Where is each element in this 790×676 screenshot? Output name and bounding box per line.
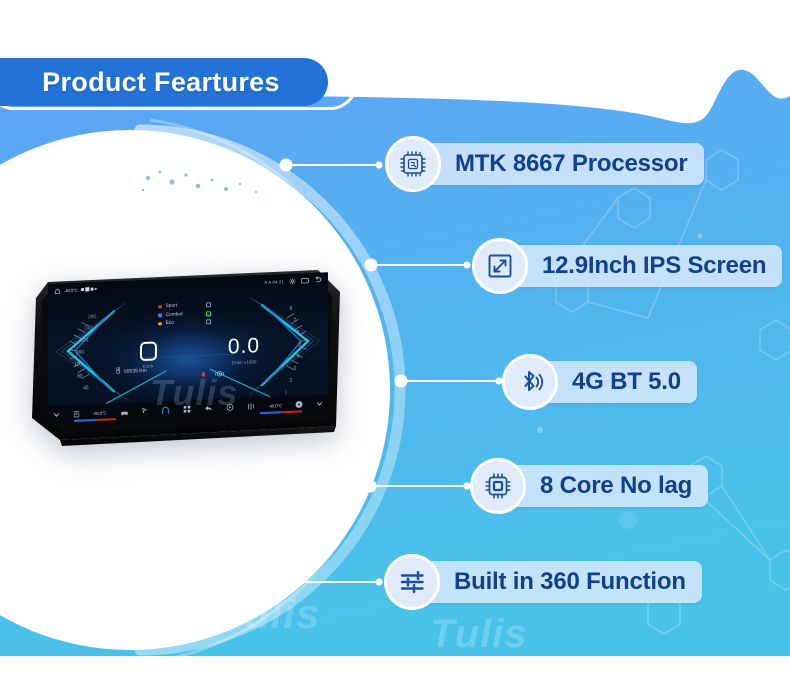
left-temp-bar bbox=[74, 418, 116, 421]
drive-mode-comfort[interactable]: Comfort bbox=[158, 311, 211, 318]
bluetooth-signal-icon bbox=[502, 354, 558, 410]
statusbar-time: 0 A 04:21 bbox=[265, 279, 284, 285]
odometer-value: 65535 Km bbox=[124, 367, 147, 374]
mode-dot bbox=[158, 322, 162, 326]
feature-pill: 12.9Inch IPS Screen bbox=[506, 245, 782, 287]
speed-value bbox=[112, 338, 184, 362]
car-icon[interactable] bbox=[120, 408, 129, 415]
car-head-unit-device: -40.0°C 0 A 04:21 bbox=[18, 268, 348, 446]
engine-temp-warning-icon bbox=[200, 365, 207, 383]
speed-tick: 40 bbox=[83, 385, 88, 391]
feature-item-screen[interactable]: 12.9Inch IPS Screen bbox=[472, 238, 782, 294]
rpm-tick: 2 bbox=[289, 378, 292, 384]
rpm-value: 0.0 bbox=[196, 334, 292, 359]
back-arrow-icon[interactable] bbox=[204, 404, 213, 412]
disc-icon[interactable] bbox=[295, 400, 303, 408]
drive-mode-sport[interactable]: Sport bbox=[158, 302, 211, 309]
feature-label: 4G BT 5.0 bbox=[572, 368, 681, 396]
navbar-right-temperature: -40.0°C bbox=[268, 403, 282, 409]
feature-item-cores[interactable]: 8 Core No lag bbox=[470, 458, 708, 514]
cpu-core-icon bbox=[470, 458, 526, 514]
feature-label: 12.9Inch IPS Screen bbox=[542, 252, 766, 280]
rpm-tick: 5 bbox=[298, 341, 301, 347]
navbar-left-temperature: -40.0°C bbox=[93, 410, 107, 416]
product-features-banner: Tulis Tulis Tulis Product Feartures MTK bbox=[0, 0, 790, 676]
screen-diagonal-icon bbox=[472, 238, 528, 294]
speed-tick: 80 bbox=[77, 374, 82, 380]
device-screen[interactable]: -40.0°C 0 A 04:21 bbox=[48, 272, 328, 424]
card-icon[interactable] bbox=[73, 410, 80, 417]
feature-pill: MTK 8667 Processor bbox=[419, 143, 704, 185]
media-icon[interactable] bbox=[226, 403, 234, 411]
warning-indicators bbox=[200, 365, 224, 384]
home-arc-icon[interactable] bbox=[161, 405, 170, 414]
rpm-tick: 7 bbox=[293, 318, 296, 324]
speed-tick: 280 bbox=[88, 314, 96, 320]
brightness-icon[interactable] bbox=[289, 277, 296, 285]
feature-item-360[interactable]: Built in 360 Function bbox=[384, 554, 702, 610]
mode-checkbox[interactable] bbox=[206, 311, 211, 316]
rpm-tick: 4 bbox=[296, 353, 299, 359]
chevron-down-icon[interactable] bbox=[53, 411, 60, 417]
speed-digit-placeholder bbox=[140, 341, 157, 361]
rpm-tick: 6 bbox=[296, 329, 299, 335]
feature-pill: 4G BT 5.0 bbox=[536, 361, 697, 403]
mode-label: Sport bbox=[166, 303, 190, 309]
mode-label: Comfort bbox=[166, 312, 190, 318]
mode-checkbox[interactable] bbox=[206, 319, 211, 324]
speed-readout: Km/h bbox=[112, 338, 184, 370]
mode-dot bbox=[158, 305, 162, 309]
back-icon[interactable] bbox=[314, 275, 322, 284]
feature-pill: Built in 360 Function bbox=[418, 561, 702, 603]
window-icon[interactable] bbox=[301, 277, 309, 285]
feature-label: Built in 360 Function bbox=[454, 568, 686, 596]
feature-item-processor[interactable]: MTK 8667 Processor bbox=[385, 136, 704, 192]
page-title: Product Feartures bbox=[0, 58, 328, 106]
brake-warning-icon bbox=[215, 365, 224, 383]
speed-tick: 120 bbox=[74, 362, 82, 368]
rpm-tick: 3 bbox=[293, 366, 296, 372]
feature-pill: 8 Core No lag bbox=[504, 465, 708, 507]
sliders-settings-icon bbox=[384, 554, 440, 610]
feature-item-bluetooth[interactable]: 4G BT 5.0 bbox=[502, 354, 697, 410]
feature-label: MTK 8667 Processor bbox=[455, 150, 688, 178]
mode-label: Eco bbox=[166, 320, 190, 326]
processor-chip-icon bbox=[385, 136, 441, 192]
battery-icons bbox=[81, 286, 99, 294]
right-temp-bar bbox=[260, 410, 302, 413]
chevron-down-icon[interactable] bbox=[316, 400, 323, 406]
odometer: 65535 Km bbox=[116, 366, 147, 376]
fuel-pump-icon bbox=[116, 367, 121, 376]
rpm-tick: 8 bbox=[289, 306, 292, 312]
speed-tick: 160 bbox=[76, 349, 84, 355]
speed-tick: 240 bbox=[84, 325, 92, 331]
equalizer-icon[interactable] bbox=[247, 402, 255, 410]
apps-grid-icon[interactable] bbox=[183, 405, 191, 413]
mode-dot bbox=[158, 313, 162, 317]
statusbar-temperature: -40.0°C bbox=[64, 288, 78, 294]
speed-tick: 200 bbox=[80, 337, 88, 343]
mode-checkbox[interactable] bbox=[206, 302, 211, 307]
navigation-icon[interactable] bbox=[141, 407, 148, 415]
page-title-text: Product Feartures bbox=[42, 67, 280, 98]
feature-label: 8 Core No lag bbox=[540, 472, 692, 500]
drive-mode-list[interactable]: Sport Comfort Eco bbox=[158, 302, 211, 326]
home-icon[interactable] bbox=[54, 287, 61, 295]
rpm-readout: 0.0 1/min x1000 bbox=[196, 334, 292, 367]
